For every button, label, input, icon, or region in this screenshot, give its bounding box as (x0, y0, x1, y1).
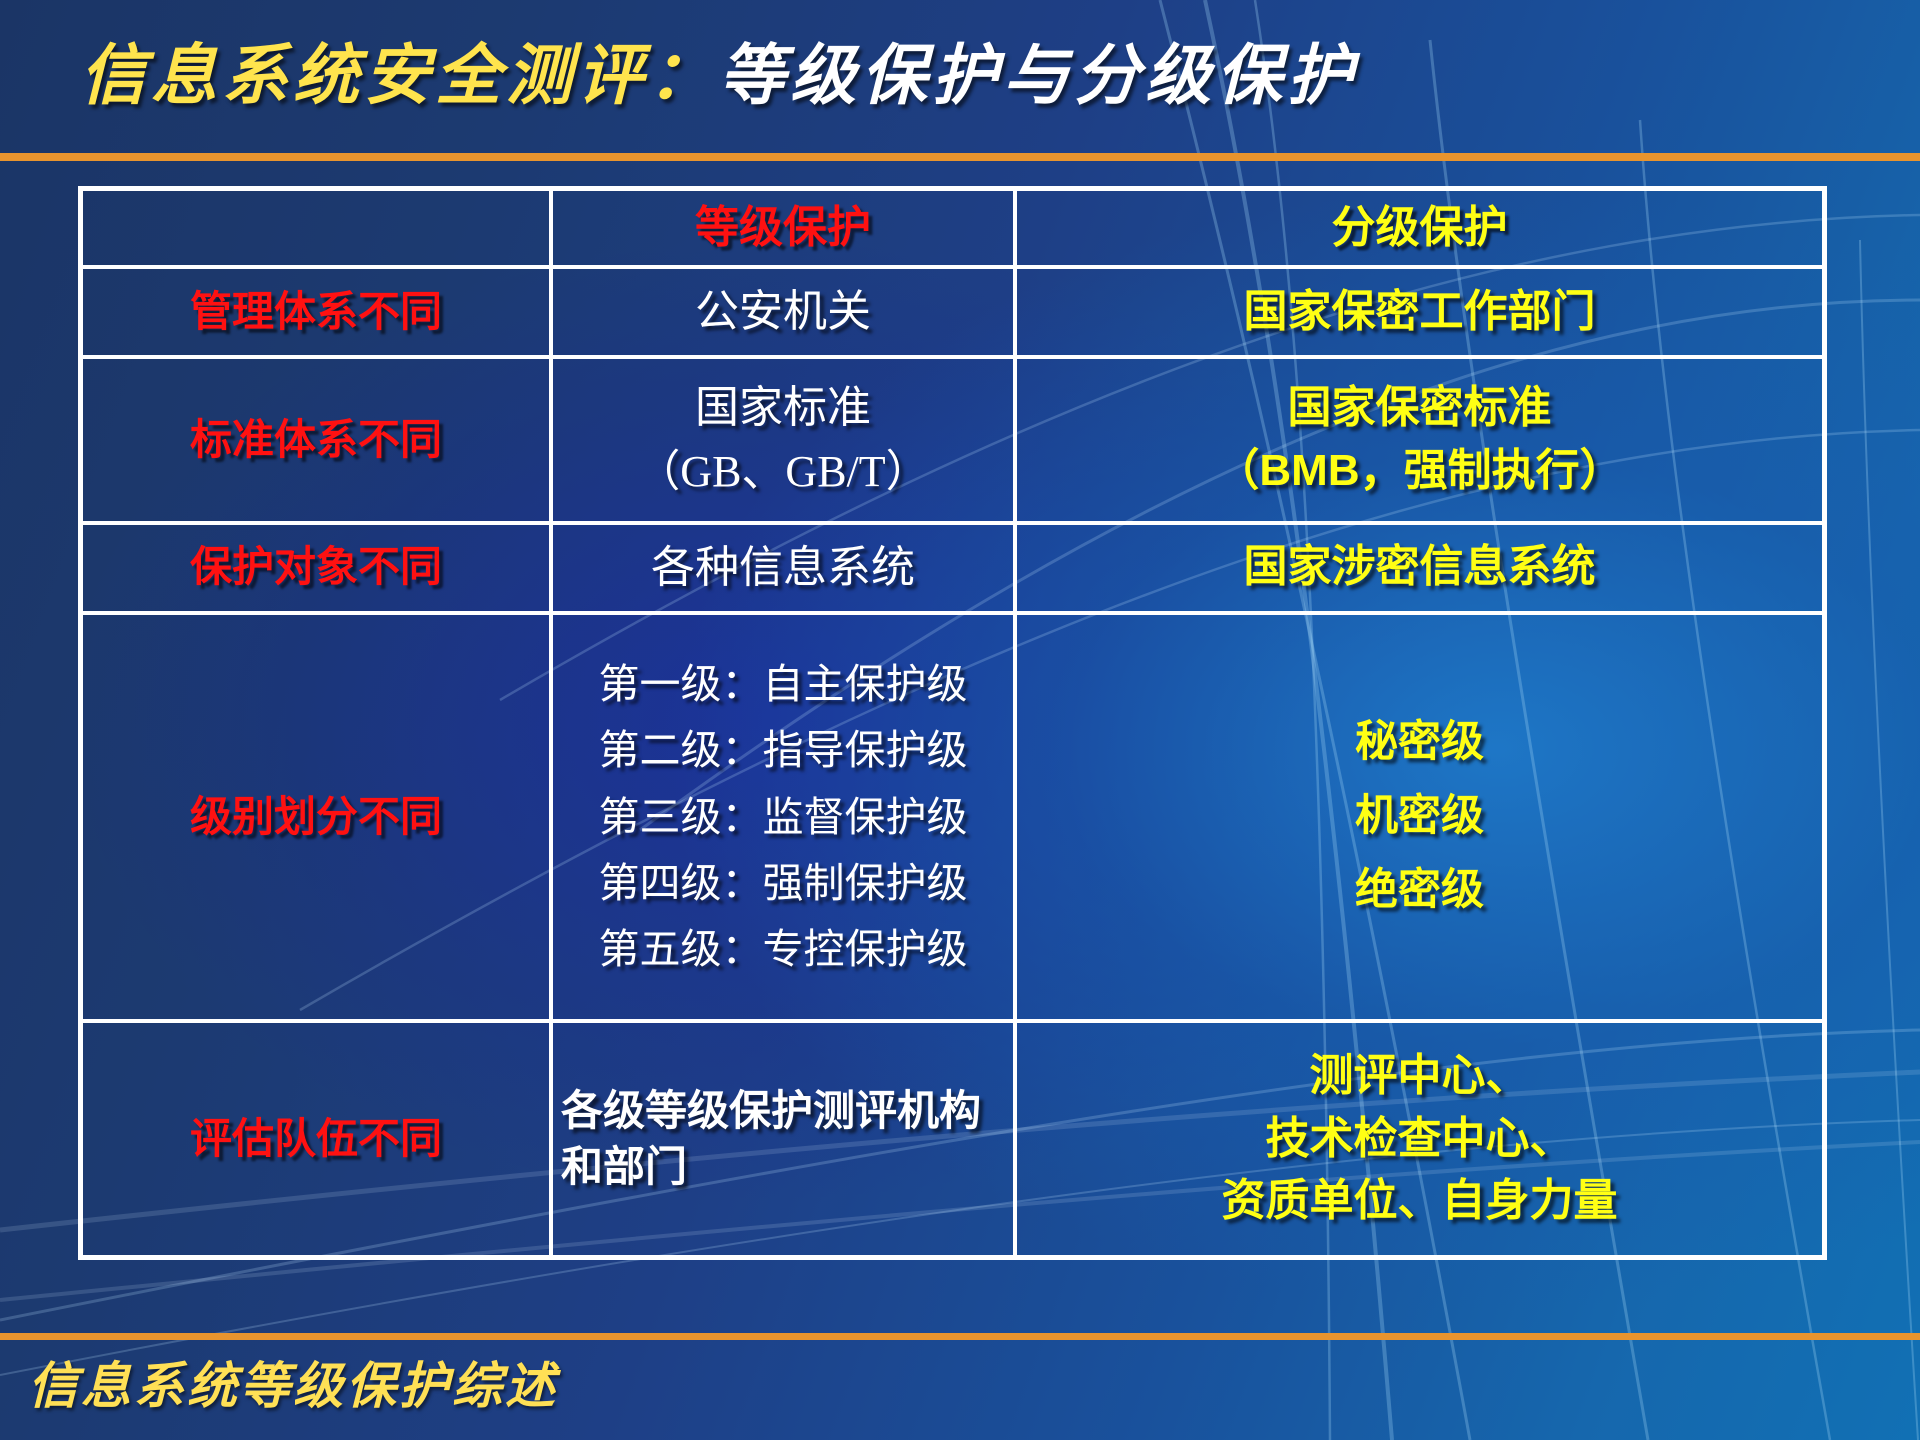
cell-dengji-object: 各种信息系统 (553, 525, 1017, 615)
cell-fenji-team: 测评中心、 技术检查中心、 资质单位、自身力量 (1017, 1023, 1822, 1255)
level-item: 第四级：强制保护级 (561, 850, 1005, 916)
level-item: 第二级：指导保护级 (561, 717, 1005, 783)
grade-item: 绝密级 (1025, 854, 1814, 928)
level-item: 第五级：专控保护级 (561, 916, 1005, 982)
cell-line: 各级等级保护测评机构 (561, 1083, 1005, 1139)
footer-divider-rule (0, 1333, 1920, 1340)
row-label-standard-system: 标准体系不同 (83, 359, 553, 525)
table-row: 标准体系不同 国家标准 （GB、GB/T） 国家保密标准 （BMB，强制执行） (83, 359, 1822, 525)
comparison-table: 等级保护 分级保护 管理体系不同 公安机关 国家保密工作部门 标准体系不同 国家… (78, 186, 1827, 1260)
table-corner-cell (83, 191, 553, 269)
cell-fenji-grades: 秘密级 机密级 绝密级 (1017, 615, 1822, 1023)
level-item: 第三级：监督保护级 (561, 784, 1005, 850)
table-row: 评估队伍不同 各级等级保护测评机构 和部门 测评中心、 技术检查中心、 资质单位… (83, 1023, 1822, 1255)
cell-line: 和部门 (561, 1139, 1005, 1195)
page-title-part-2: 等级保护与分级保护 (719, 38, 1358, 112)
table-header-row: 等级保护 分级保护 (83, 191, 1822, 269)
row-label-level-division: 级别划分不同 (83, 615, 553, 1023)
cell-line: 技术检查中心、 (1025, 1108, 1814, 1170)
page-title: 信息系统安全测评：等级保护与分级保护 (80, 16, 1900, 134)
title-band: 信息系统安全测评：等级保护与分级保护 (0, 0, 1920, 153)
cell-line: 测评中心、 (1025, 1045, 1814, 1107)
cell-line: 资质单位、自身力量 (1025, 1170, 1814, 1232)
cell-line: （GB、GB/T） (561, 440, 1005, 504)
cell-dengji-levels: 第一级：自主保护级 第二级：指导保护级 第三级：监督保护级 第四级：强制保护级 … (553, 615, 1017, 1023)
row-label-assessment-team: 评估队伍不同 (83, 1023, 553, 1255)
row-label-management-system: 管理体系不同 (83, 269, 553, 359)
cell-line: 国家保密标准 (1025, 377, 1814, 439)
table-header-dengji-baohu: 等级保护 (553, 191, 1017, 269)
cell-line: （BMB，强制执行） (1025, 440, 1814, 502)
grade-item: 秘密级 (1025, 706, 1814, 780)
cell-line: 国家标准 (561, 376, 1005, 440)
cell-dengji-team: 各级等级保护测评机构 和部门 (553, 1023, 1017, 1255)
cell-fenji-standard: 国家保密标准 （BMB，强制执行） (1017, 359, 1822, 525)
cell-fenji-management: 国家保密工作部门 (1017, 269, 1822, 359)
cell-fenji-object: 国家涉密信息系统 (1017, 525, 1822, 615)
page-title-part-1: 信息系统安全测评： (80, 38, 719, 112)
grade-item: 机密级 (1025, 780, 1814, 854)
footer-title: 信息系统等级保护综述 (28, 1343, 558, 1429)
cell-dengji-standard: 国家标准 （GB、GB/T） (553, 359, 1017, 525)
title-divider-rule (0, 153, 1920, 161)
table-header-fenji-baohu: 分级保护 (1017, 191, 1822, 269)
row-label-protection-object: 保护对象不同 (83, 525, 553, 615)
cell-dengji-management: 公安机关 (553, 269, 1017, 359)
table-row: 级别划分不同 第一级：自主保护级 第二级：指导保护级 第三级：监督保护级 第四级… (83, 615, 1822, 1023)
level-item: 第一级：自主保护级 (561, 651, 1005, 717)
table-row: 管理体系不同 公安机关 国家保密工作部门 (83, 269, 1822, 359)
table-row: 保护对象不同 各种信息系统 国家涉密信息系统 (83, 525, 1822, 615)
